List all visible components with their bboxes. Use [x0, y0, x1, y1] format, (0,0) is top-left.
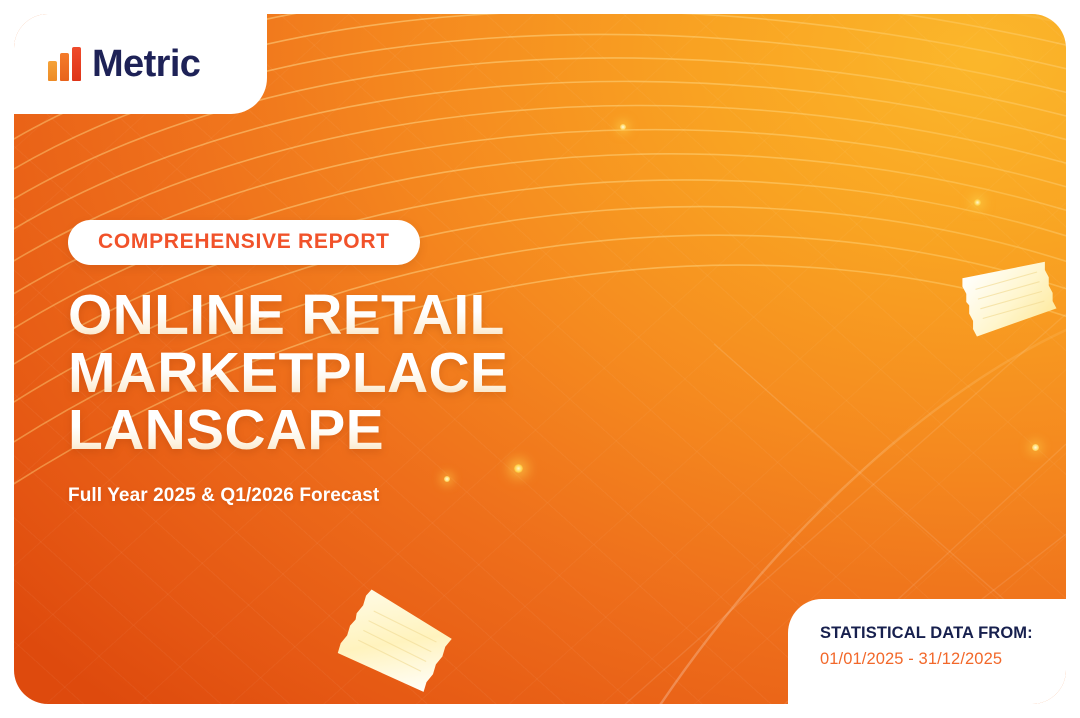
sparkle-dot: [974, 199, 981, 206]
page-title: ONLINE RETAIL MARKETPLACE LANSCAPE: [68, 287, 588, 460]
title-line-1: ONLINE RETAIL: [68, 287, 588, 345]
receipt-ticket-left: [322, 583, 469, 704]
title-line-3: LANSCAPE: [68, 402, 588, 460]
sparkle-dot: [620, 124, 626, 130]
stats-date-range: 01/01/2025 - 31/12/2025: [820, 649, 1066, 670]
sparkle-dot: [1032, 444, 1039, 451]
report-badge: COMPREHENSIVE REPORT: [68, 220, 420, 265]
main-panel: ONLINE SHOPPING: [14, 14, 1066, 704]
brand-logo[interactable]: Metric: [14, 14, 267, 114]
title-line-2: MARKETPLACE: [68, 345, 588, 403]
headline-block: COMPREHENSIVE REPORT ONLINE RETAIL MARKE…: [68, 220, 588, 507]
report-badge-label: COMPREHENSIVE REPORT: [98, 230, 390, 253]
stats-title: STATISTICAL DATA FROM:: [820, 623, 1066, 644]
statistical-data-block: STATISTICAL DATA FROM: 01/01/2025 - 31/1…: [788, 599, 1066, 704]
bar-chart-icon: [48, 47, 81, 81]
page-subtitle: Full Year 2025 & Q1/2026 Forecast: [68, 485, 588, 507]
brand-name: Metric: [92, 45, 200, 83]
poster-canvas: ONLINE SHOPPING: [0, 0, 1080, 718]
